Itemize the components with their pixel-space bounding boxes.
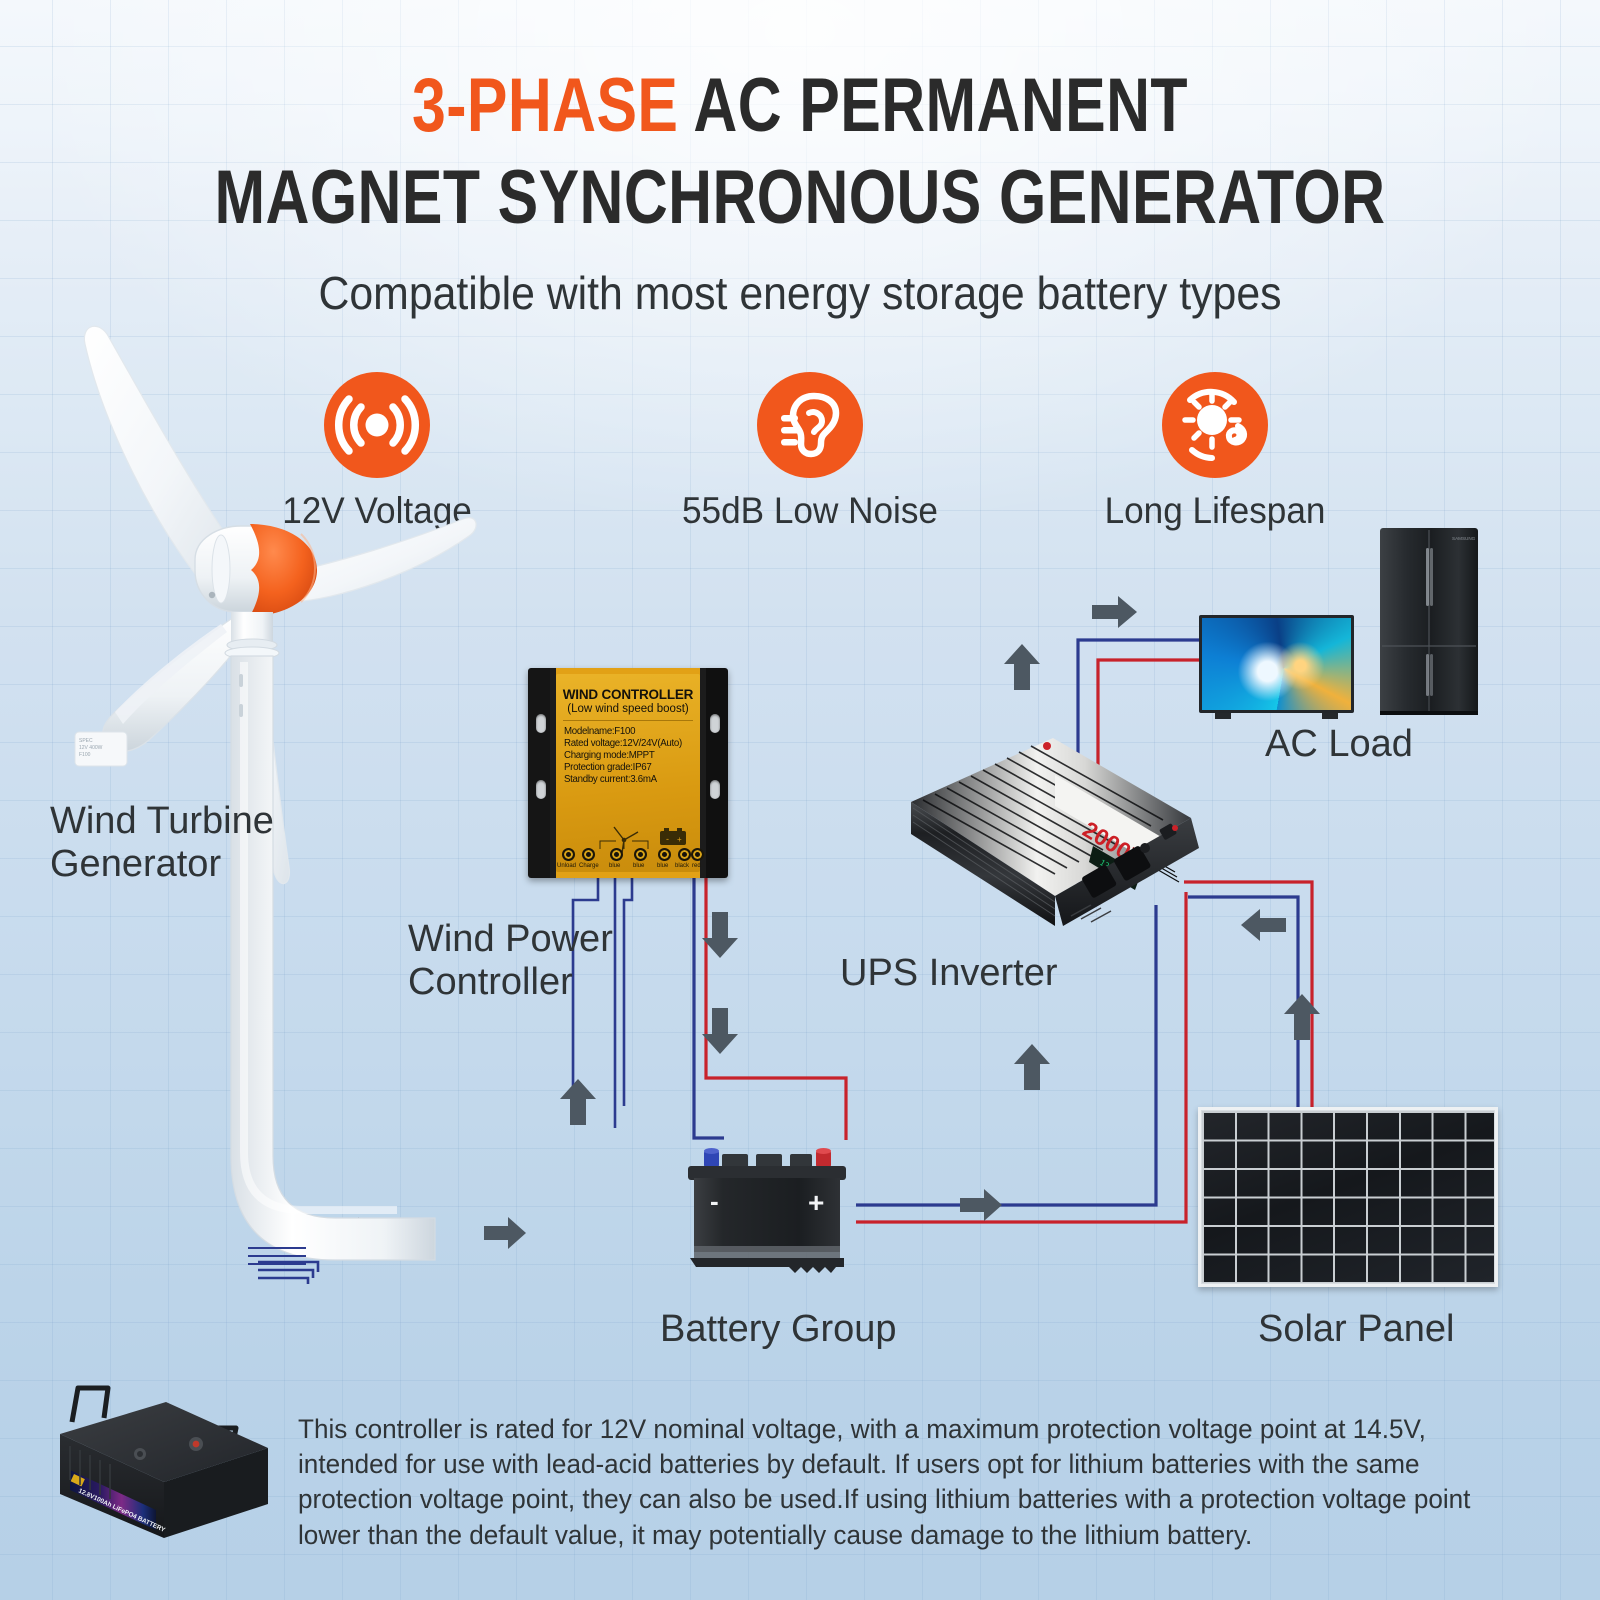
terminal-label: Charge <box>579 863 599 869</box>
mount-hole <box>536 714 546 733</box>
terminal-blue-2 <box>634 848 647 861</box>
label-ac-load: AC Load <box>1265 723 1413 766</box>
disclaimer-text: This controller is rated for 12V nominal… <box>298 1412 1519 1553</box>
svg-text:12V 400W: 12V 400W <box>79 745 103 751</box>
tv-screen <box>1199 615 1354 713</box>
controller-subtitle: (Low wind speed boost) <box>556 703 700 715</box>
terminal-charge <box>582 848 595 861</box>
controller-spec: Charging mode:MPPT <box>564 750 700 761</box>
terminal-black <box>678 848 691 861</box>
label-wind-power-controller: Wind Power Controller <box>408 918 613 1005</box>
ups-inverter-device: 2000W 12.8 <box>905 730 1205 945</box>
svg-text:-: - <box>666 834 669 844</box>
terminal-label: blue <box>633 863 644 869</box>
svg-text:F100: F100 <box>79 752 91 758</box>
svg-text:SPEC: SPEC <box>79 738 93 744</box>
tv-foot <box>1215 713 1231 719</box>
terminal-label: blue <box>657 863 668 869</box>
infographic-canvas: 3-PHASE AC PERMANENT MAGNET SYNCHRONOUS … <box>0 0 1600 1600</box>
terminal-blue-3 <box>658 848 671 861</box>
wind-power-controller-device: WIND CONTROLLER (Low wind speed boost) M… <box>528 668 728 878</box>
battery-group-art: - + <box>678 1148 856 1283</box>
label-wind-turbine-generator: Wind Turbine Generator <box>50 800 274 887</box>
battery-icon: - + <box>660 828 686 845</box>
terminal-label: black <box>675 863 689 869</box>
terminal-label: red <box>692 863 701 869</box>
svg-text:+: + <box>677 835 682 844</box>
panel-cells <box>1202 1111 1494 1283</box>
terminal-unload <box>562 848 575 861</box>
terminal-label: blue <box>609 863 620 869</box>
tv-foot <box>1322 713 1338 719</box>
battery-positive-symbol: + <box>808 1187 824 1218</box>
label-ups-inverter: UPS Inverter <box>840 952 1058 995</box>
controller-spec: Protection grade:IP67 <box>564 762 700 773</box>
label-battery-group: Battery Group <box>660 1308 897 1351</box>
lithium-battery-art: 12.8V100Ah LiFePO4 BATTERY <box>48 1378 280 1556</box>
tv-ac-load-art <box>1199 615 1354 713</box>
controller-title: WIND CONTROLLER <box>556 687 700 702</box>
battery-negative-symbol: - <box>710 1186 719 1216</box>
refrigerator-art: SAMSUNG <box>1380 528 1478 715</box>
terminal-red <box>691 848 704 861</box>
divider <box>563 720 693 721</box>
mount-hole <box>710 780 720 799</box>
solar-panel-art <box>1198 1107 1498 1287</box>
terminal-label: Unload <box>557 863 576 869</box>
mount-hole <box>536 780 546 799</box>
controller-label-face: WIND CONTROLLER (Low wind speed boost) M… <box>556 674 700 872</box>
controller-spec: Standby current:3.6mA <box>564 774 700 785</box>
controller-terminal-area: - + Unload Charge blue blue blue black r… <box>556 829 700 869</box>
svg-text:SAMSUNG: SAMSUNG <box>1452 536 1476 541</box>
controller-spec: Modelname:F100 <box>564 726 700 737</box>
label-solar-panel: Solar Panel <box>1258 1308 1454 1351</box>
terminal-blue-1 <box>610 848 623 861</box>
controller-spec: Rated voltage:12V/24V(Auto) <box>564 738 700 749</box>
mount-hole <box>710 714 720 733</box>
